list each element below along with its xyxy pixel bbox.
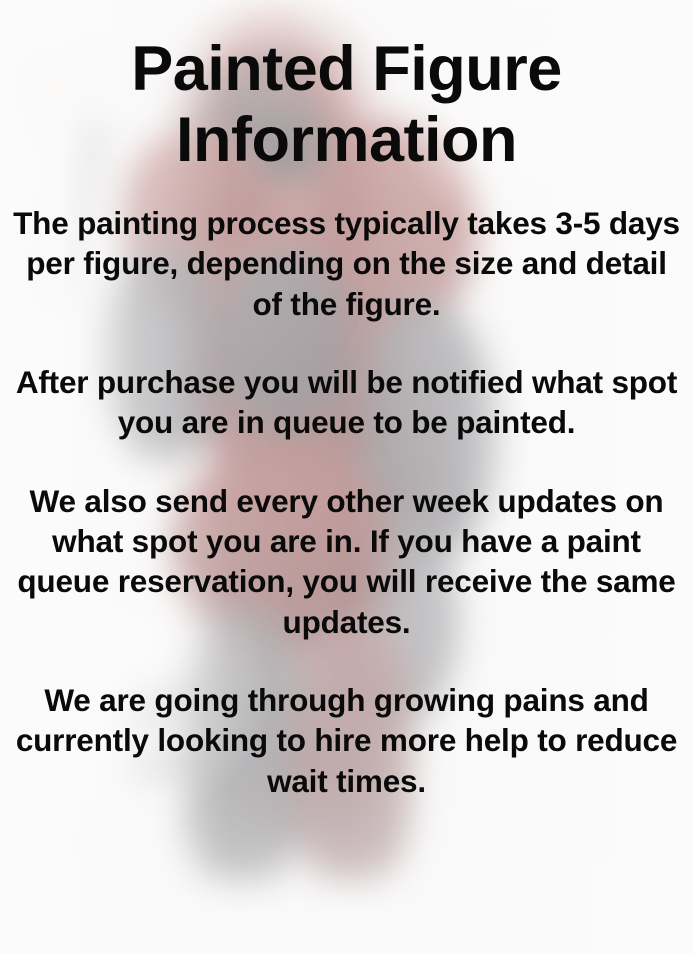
page-title: Painted Figure Information xyxy=(8,0,685,175)
info-paragraph-growing-pains: We are going through growing pains and c… xyxy=(8,680,685,801)
info-paragraph-painting-duration: The painting process typically takes 3-5… xyxy=(8,203,685,324)
page-title-line-1: Painted Figure xyxy=(8,34,685,105)
info-paragraph-queue-notification: After purchase you will be notified what… xyxy=(8,362,685,443)
painted-figure-information-card: Painted Figure Information The painting … xyxy=(0,0,693,954)
card-content: Painted Figure Information The painting … xyxy=(0,0,693,954)
page-title-line-2: Information xyxy=(8,105,685,176)
info-paragraph-biweekly-updates: We also send every other week updates on… xyxy=(8,481,685,642)
information-paragraphs: The painting process typically takes 3-5… xyxy=(8,203,685,801)
